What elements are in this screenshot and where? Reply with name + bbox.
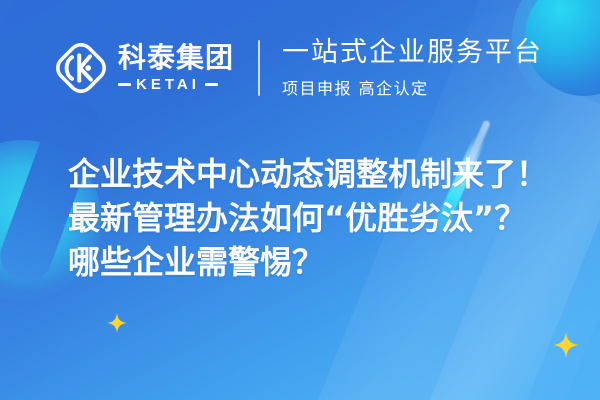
sparkle-star-icon-left	[107, 313, 127, 333]
header-divider	[258, 40, 260, 96]
tagline-main: 一站式企业服务平台	[282, 37, 543, 69]
headline-line-1: 企业技术中心动态调整机制来了！	[68, 152, 588, 196]
brand-name-chinese: 科泰集团	[118, 43, 234, 72]
headline-line-3: 哪些企业需警惕？	[68, 240, 588, 284]
headline-line-2: 最新管理办法如何“优胜劣汰”？	[68, 196, 588, 240]
brand-logo[interactable]: 科泰集团 KETAI	[54, 41, 234, 95]
brand-logo-wordmark: 科泰集团 KETAI	[118, 43, 234, 92]
wordmark-dash-left	[118, 83, 131, 86]
brand-name-english: KETAI	[136, 76, 200, 93]
wordmark-dash-right	[205, 83, 218, 86]
header-tagline: 一站式企业服务平台 项目申报 高企认定	[282, 37, 543, 99]
banner-header: 科泰集团 KETAI 一站式企业服务平台 项目申报 高企认定	[0, 0, 600, 136]
promo-banner: 科泰集团 KETAI 一站式企业服务平台 项目申报 高企认定 企业技术中心动态调…	[0, 0, 600, 400]
sparkle-star-icon-right	[553, 332, 579, 358]
headline-block: 企业技术中心动态调整机制来了！ 最新管理办法如何“优胜劣汰”？ 哪些企业需警惕？	[68, 152, 588, 284]
ketai-diamond-monogram-logo-icon	[54, 41, 108, 95]
brand-name-english-row: KETAI	[118, 76, 234, 93]
tagline-sub: 项目申报 高企认定	[282, 75, 543, 99]
